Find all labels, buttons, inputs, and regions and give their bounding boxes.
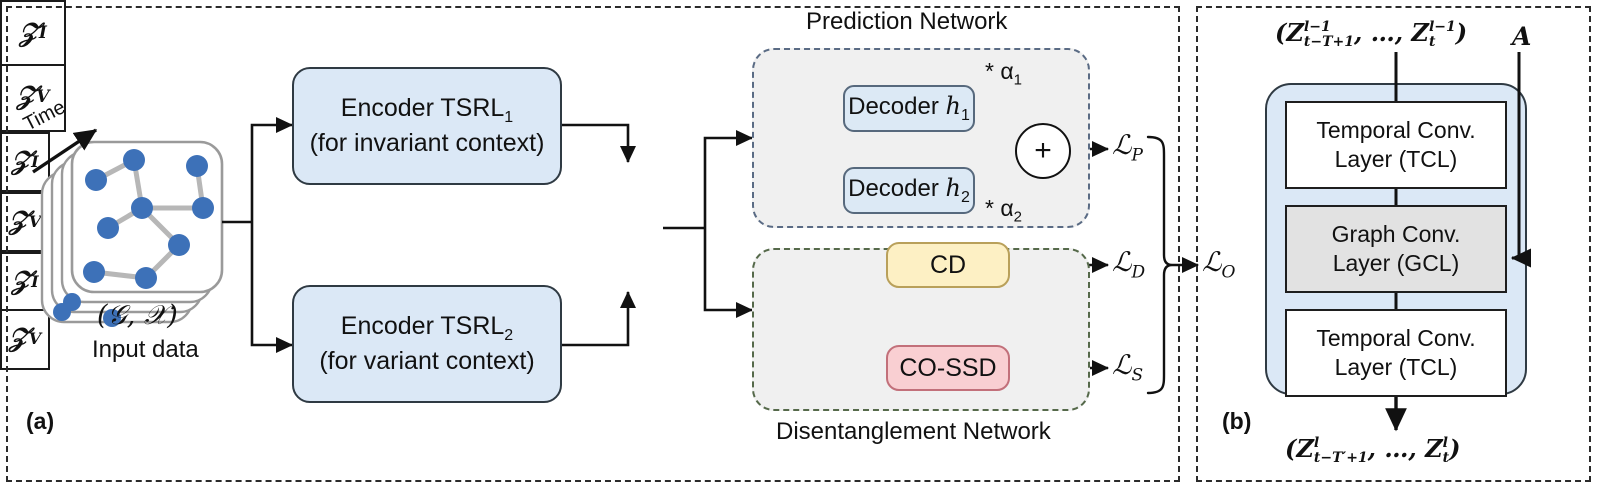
panel-b-wiring xyxy=(0,0,1597,488)
output-paren-open: ( xyxy=(1285,434,1296,463)
output-z1-sup: l xyxy=(1314,436,1368,450)
output-paren-close: ) xyxy=(1449,434,1460,463)
output-z1-sub: t−T′+1 xyxy=(1314,451,1368,465)
output-ellipsis: , …, xyxy=(1368,434,1425,463)
figure-root: (a) xyxy=(0,0,1597,488)
output-z1: Z xyxy=(1296,434,1314,463)
output-z2: Z xyxy=(1425,434,1443,463)
tsrl-output-expression: (Z l t−T′+1 , …, Z l t ) xyxy=(1285,434,1460,465)
